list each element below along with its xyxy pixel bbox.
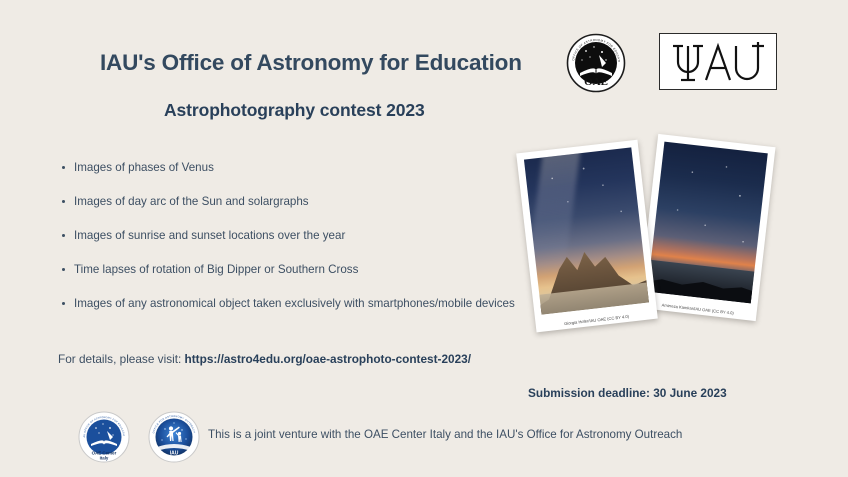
page-title: IAU's Office of Astronomy for Education bbox=[100, 50, 522, 76]
page-subtitle: Astrophotography contest 2023 bbox=[164, 100, 425, 121]
details-prefix: For details, please visit: bbox=[58, 352, 185, 366]
oae-seal-label: OAE bbox=[584, 76, 608, 88]
oae-italy-line2: Italy bbox=[100, 456, 109, 461]
photo-card-milkyway: Giorgia Hofer/IAU OAE (CC BY 4.0) bbox=[516, 140, 658, 333]
poster-slide: IAU's Office of Astronomy for Education … bbox=[0, 0, 848, 477]
contest-category-list: Images of phases of Venus Images of day … bbox=[62, 160, 542, 330]
contest-url-link[interactable]: https://astro4edu.org/oae-astrophoto-con… bbox=[185, 352, 471, 366]
photo-image-seascape bbox=[647, 142, 767, 304]
iau-logo-icon bbox=[659, 33, 777, 90]
iau-outreach-logo-icon: IAU OFFICE FOR ASTRONOMY OUTREACH bbox=[148, 411, 200, 463]
list-item: Images of any astronomical object taken … bbox=[62, 296, 542, 312]
photo-image-milkyway bbox=[524, 147, 649, 314]
list-item: Images of day arc of the Sun and solargr… bbox=[62, 194, 542, 210]
photo-collage: Amirreza Kamkar/IAU OAE (CC BY 4.0) Gior… bbox=[520, 132, 820, 337]
list-item: Time lapses of rotation of Big Dipper or… bbox=[62, 262, 542, 278]
list-item: Images of phases of Venus bbox=[62, 160, 542, 176]
photo-card-seascape: Amirreza Kamkar/IAU OAE (CC BY 4.0) bbox=[638, 134, 775, 321]
oae-center-italy-logo-icon: OAE Center Italy IAU OFFICE OF ASTRONOMY… bbox=[78, 411, 130, 463]
submission-deadline: Submission deadline: 30 June 2023 bbox=[528, 386, 727, 400]
details-line: For details, please visit: https://astro… bbox=[58, 352, 471, 366]
oae-seal-icon: OAE IAU OFFICE OF ASTRONOMY FOR EDUCATIO… bbox=[566, 33, 626, 93]
milky-way-band bbox=[528, 147, 580, 270]
list-item: Images of sunrise and sunset locations o… bbox=[62, 228, 542, 244]
iau-outreach-label: IAU bbox=[170, 451, 179, 457]
footer-note: This is a joint venture with the OAE Cen… bbox=[208, 428, 682, 441]
